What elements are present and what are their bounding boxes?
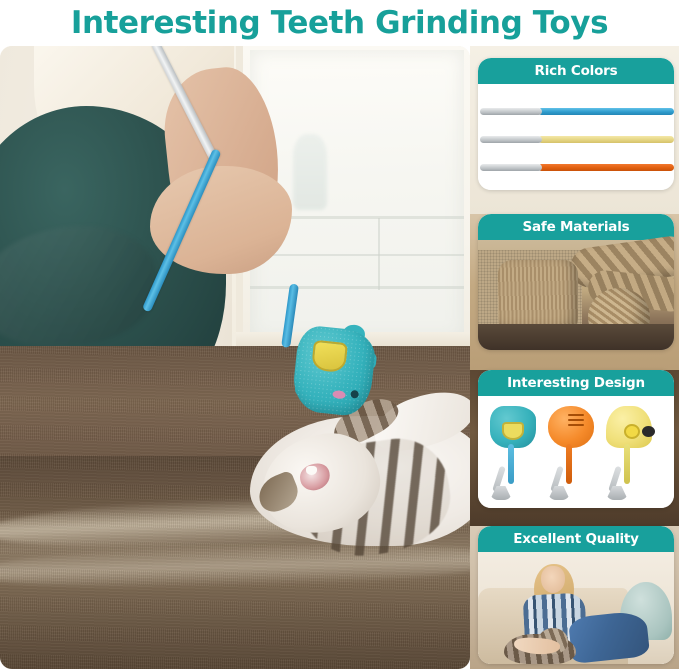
panel-header: Rich Colors — [478, 58, 674, 84]
toy-paws — [642, 426, 655, 437]
wood-surface — [478, 324, 674, 350]
toy-belly-patch — [502, 422, 524, 440]
toy-belly-patch — [624, 424, 640, 439]
feature-panel-rich-colors[interactable]: Rich Colors — [478, 58, 674, 190]
rod-shaft — [538, 136, 674, 143]
panel-header: Excellent Quality — [478, 526, 674, 552]
woman-face — [541, 566, 565, 593]
feature-panel-interesting-design[interactable]: Interesting Design — [478, 370, 674, 508]
panel-image-rich-colors — [478, 84, 674, 190]
wand-rod-orange — [478, 164, 674, 171]
window-mullion — [378, 218, 380, 290]
living-room-scene — [478, 552, 674, 664]
feature-panel-excellent-quality[interactable]: Excellent Quality — [478, 526, 674, 664]
hero-photo — [0, 46, 470, 669]
page-title-bar: Interesting Teeth Grinding Toys — [0, 0, 679, 46]
twine-spool — [498, 260, 578, 332]
feature-panel-safe-materials[interactable]: Safe Materials — [478, 214, 674, 350]
rod-shaft — [538, 164, 674, 171]
outdoor-shape — [293, 134, 327, 210]
panel-header: Safe Materials — [478, 214, 674, 240]
toy-cord — [624, 444, 630, 484]
rod-grip — [480, 136, 542, 143]
panel-title: Excellent Quality — [513, 531, 639, 547]
toy-blue-dinosaur — [486, 404, 542, 500]
jeans — [568, 610, 650, 664]
product-infographic: Interesting Teeth Grinding Toys — [0, 0, 679, 669]
wand-rod-yellow — [478, 136, 674, 143]
panel-image-interesting-design — [478, 396, 674, 508]
window-rail — [250, 254, 464, 256]
toy-orange-round — [544, 404, 600, 500]
panel-image-safe-materials — [478, 240, 674, 350]
window-rail — [250, 286, 464, 289]
wand-rod-blue — [478, 108, 674, 115]
toy-stripes — [568, 414, 584, 416]
panel-header: Interesting Design — [478, 370, 674, 396]
rod-grip — [480, 108, 542, 115]
toy-cord — [508, 444, 514, 484]
panel-title: Interesting Design — [507, 375, 645, 391]
rod-grip — [480, 164, 542, 171]
panel-title: Rich Colors — [535, 63, 618, 79]
toy-cord — [566, 444, 572, 484]
rod-shaft — [538, 108, 674, 115]
panel-title: Safe Materials — [523, 219, 630, 235]
dinosaur-toy — [291, 324, 378, 418]
toy-yellow-triangle — [602, 404, 658, 500]
cat-tooth — [306, 466, 317, 475]
jute-scene — [478, 240, 674, 350]
panel-image-excellent-quality — [478, 552, 674, 664]
pants-fold — [0, 226, 156, 346]
page-title: Interesting Teeth Grinding Toys — [71, 8, 608, 39]
toy-head — [548, 406, 594, 448]
